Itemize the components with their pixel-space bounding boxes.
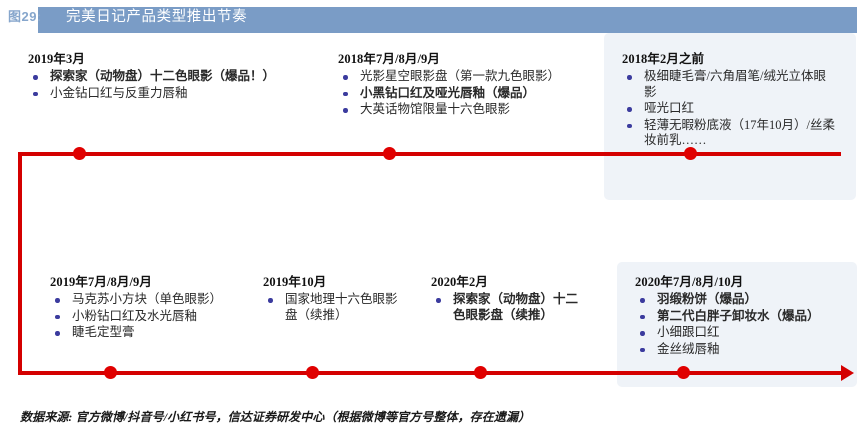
list-item: 大英话物馆限量十六色眼影 — [338, 102, 588, 118]
group-item-list: 极细睫毛膏/六角眉笔/绒光立体眼影 哑光口红 轻薄无暇粉底液（17年10月）/丝… — [622, 69, 837, 149]
list-item: 第二代白胖子卸妆水（爆品） — [635, 309, 860, 325]
timeline-dot-2019-03[interactable] — [73, 147, 86, 160]
source-note: 数据来源: 官方微博/抖音号/小红书号，信达证券研发中心（根据微博等官方号整体，… — [20, 408, 530, 425]
list-item: 小粉钻口红及水光唇釉 — [50, 309, 275, 325]
group-date: 2018年7月/8月/9月 — [338, 48, 588, 67]
group-item-list: 探索家（动物盘）十二色眼影（爆品！） 小金钻口红与反重力唇釉 — [28, 69, 328, 101]
group-2019-03: 2019年3月 探索家（动物盘）十二色眼影（爆品！） 小金钻口红与反重力唇釉 — [28, 48, 328, 102]
list-item: 小金钻口红与反重力唇釉 — [28, 86, 328, 102]
group-item-list: 光影星空眼影盘（第一款九色眼影） 小黑钻口红及哑光唇釉（爆品） 大英话物馆限量十… — [338, 69, 588, 118]
timeline-bottom-line — [18, 371, 845, 375]
page-title: 完美日记产品类型推出节奏 — [66, 5, 247, 26]
list-item: 探索家（动物盘）十二色眼影（爆品！） — [28, 69, 328, 85]
group-2020-02: 2020年2月 探索家（动物盘）十二色眼影盘（续推） — [431, 271, 581, 324]
list-item: 马克苏小方块（单色眼影） — [50, 292, 275, 308]
group-item-list: 马克苏小方块（单色眼影） 小粉钻口红及水光唇釉 睫毛定型膏 — [50, 292, 275, 341]
list-item: 光影星空眼影盘（第一款九色眼影） — [338, 69, 588, 85]
figure-label: 图29: — [8, 6, 42, 25]
list-item: 金丝绒唇釉 — [635, 342, 860, 358]
timeline-left-connector — [18, 152, 22, 374]
timeline-figure: 图29: 完美日记产品类型推出节奏 2019年3月 探索家（动物盘）十二色眼影（… — [0, 0, 864, 435]
group-date: 2018年2月之前 — [622, 48, 837, 67]
list-item: 睫毛定型膏 — [50, 325, 275, 341]
group-2019-10: 2019年10月 国家地理十六色眼影盘（续推） — [263, 271, 403, 324]
list-item: 小细跟口红 — [635, 325, 860, 341]
timeline-top-line — [18, 152, 841, 156]
group-date: 2019年3月 — [28, 48, 328, 67]
group-2019-07-08-09: 2019年7月/8月/9月 马克苏小方块（单色眼影） 小粉钻口红及水光唇釉 睫毛… — [50, 271, 275, 342]
list-item: 小黑钻口红及哑光唇釉（爆品） — [338, 86, 588, 102]
list-item: 哑光口红 — [622, 101, 837, 117]
timeline-dot-2020-02[interactable] — [474, 366, 487, 379]
group-item-list: 国家地理十六色眼影盘（续推） — [263, 292, 403, 323]
timeline-dot-2020-07-08-10[interactable] — [677, 366, 690, 379]
timeline-dot-2019-10[interactable] — [306, 366, 319, 379]
group-before-2018-02: 2018年2月之前 极细睫毛膏/六角眉笔/绒光立体眼影 哑光口红 轻薄无暇粉底液… — [622, 48, 837, 150]
group-date: 2020年7月/8月/10月 — [635, 271, 860, 290]
group-2020-07-08-10: 2020年7月/8月/10月 羽缎粉饼（爆品） 第二代白胖子卸妆水（爆品） 小细… — [635, 271, 860, 358]
list-item: 轻薄无暇粉底液（17年10月）/丝柔妆前乳…… — [622, 118, 837, 149]
timeline-dot-2018-07-08-09[interactable] — [383, 147, 396, 160]
list-item: 极细睫毛膏/六角眉笔/绒光立体眼影 — [622, 69, 837, 100]
group-item-list: 探索家（动物盘）十二色眼影盘（续推） — [431, 292, 581, 323]
group-date: 2019年10月 — [263, 271, 403, 290]
list-item: 羽缎粉饼（爆品） — [635, 292, 860, 308]
timeline-arrow-icon — [841, 365, 854, 381]
group-date: 2020年2月 — [431, 271, 581, 290]
timeline-dot-2019-07-08-09[interactable] — [104, 366, 117, 379]
group-2018-07-08-09: 2018年7月/8月/9月 光影星空眼影盘（第一款九色眼影） 小黑钻口红及哑光唇… — [338, 48, 588, 119]
list-item: 国家地理十六色眼影盘（续推） — [263, 292, 403, 323]
group-item-list: 羽缎粉饼（爆品） 第二代白胖子卸妆水（爆品） 小细跟口红 金丝绒唇釉 — [635, 292, 860, 357]
group-date: 2019年7月/8月/9月 — [50, 271, 275, 290]
list-item: 探索家（动物盘）十二色眼影盘（续推） — [431, 292, 581, 323]
